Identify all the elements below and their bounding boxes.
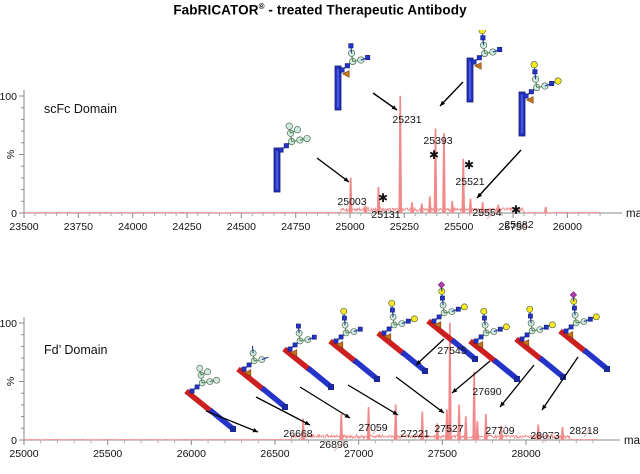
glcnac-square-icon xyxy=(312,335,316,339)
spectrum-peak xyxy=(476,421,479,440)
fd-protein-icon xyxy=(284,349,334,390)
glycan-structure-g0f xyxy=(288,324,316,356)
mannose-circle-icon xyxy=(286,123,292,129)
glycan-structure-g1f xyxy=(472,30,502,69)
peak-label-28218: 28218 xyxy=(569,425,598,437)
glycan-structure-g2f xyxy=(474,308,510,348)
glycan-annot-26668 xyxy=(186,365,236,432)
fd-protein-icon xyxy=(378,333,428,374)
glycan-annot-28218 xyxy=(560,292,610,372)
x-tick-label: 26500 xyxy=(260,448,289,460)
spectrum-peak xyxy=(340,414,343,440)
glcnac-square-icon xyxy=(279,148,283,152)
glycan-annot-25231 xyxy=(335,44,370,110)
peak-label-27221: 27221 xyxy=(400,428,429,440)
x-tick-label: 24750 xyxy=(281,221,310,233)
glcnac-square-icon xyxy=(340,68,344,72)
glcnac-square-icon xyxy=(288,347,292,351)
fd-blue-segment xyxy=(584,350,606,368)
glcnac-square-icon xyxy=(195,385,199,389)
glycan-annot-27059 xyxy=(284,324,334,390)
x-tick-label: 24250 xyxy=(172,221,201,233)
peak-label-25554: 25554 xyxy=(472,207,501,219)
arrow-to-25393 xyxy=(440,82,463,106)
title-main: FabRICATOR xyxy=(173,3,258,18)
x-tick-label: 24000 xyxy=(118,221,147,233)
figure-root: FabRICATOR® - treated Therapeutic Antibo… xyxy=(0,0,640,474)
arrow-to-25231 xyxy=(373,93,397,110)
fd-terminal-square xyxy=(422,368,428,374)
glcnac-square-icon xyxy=(358,327,362,331)
galactose-circle-icon xyxy=(481,308,487,314)
x-tick-label: 26000 xyxy=(177,448,206,460)
fd-protein-icon xyxy=(516,339,566,380)
y-axis-label: % xyxy=(5,377,17,386)
fd-protein-icon xyxy=(560,331,610,372)
galactose-circle-icon xyxy=(531,61,537,67)
arrow-to-27221 xyxy=(348,385,398,415)
galactose-circle-icon xyxy=(461,304,467,310)
x-axis-label: mass xyxy=(624,435,640,447)
neuac-diamond-icon xyxy=(570,292,576,298)
spectrum-peak xyxy=(410,202,413,213)
arrow-to-26896 xyxy=(256,397,310,425)
fd-blue-segment xyxy=(262,388,284,406)
fd-blue-segment xyxy=(308,368,330,386)
fd-blue-segment xyxy=(354,360,376,378)
glcnac-square-icon xyxy=(382,331,386,335)
glcnac-square-icon xyxy=(525,333,529,337)
glcnac-square-icon xyxy=(296,324,300,328)
mannose-circle-icon xyxy=(197,365,203,371)
x-axis-label: mass xyxy=(626,208,640,220)
glycan-annot-25003 xyxy=(274,123,310,192)
glcnac-square-icon xyxy=(564,329,568,333)
fd-protein-icon xyxy=(238,369,288,410)
glcnac-square-icon xyxy=(339,335,343,339)
spectrum-peak xyxy=(420,204,423,213)
glycan-annot-27221 xyxy=(330,308,380,382)
spectrum-fd: 1000%25000255002600026500270002750028000… xyxy=(0,265,640,474)
x-tick-label: 23750 xyxy=(64,221,93,233)
fd-blue-segment xyxy=(540,358,562,376)
y-axis-label: % xyxy=(5,150,17,159)
galactose-circle-icon xyxy=(341,308,347,314)
spectrum-peak xyxy=(473,372,476,440)
glcnac-square-icon xyxy=(497,47,501,51)
glcnac-square-icon xyxy=(432,319,436,323)
mannose-circle-icon xyxy=(358,57,364,63)
glycan-annot-28073 xyxy=(516,306,566,380)
peak-label-26896: 26896 xyxy=(319,439,348,451)
figure-title: FabRICATOR® - treated Therapeutic Antibo… xyxy=(0,2,640,18)
spectrum-peak xyxy=(451,201,454,213)
glcnac-square-icon xyxy=(524,94,528,98)
glcnac-square-icon xyxy=(247,363,251,367)
glcnac-square-icon xyxy=(190,389,194,393)
fd-terminal-square xyxy=(514,376,520,382)
y-tick-label-0: 0 xyxy=(11,208,17,220)
glcnac-square-icon xyxy=(472,60,476,64)
fd-terminal-square xyxy=(604,366,610,372)
arrow-to-25554 xyxy=(477,150,521,198)
spectrum-peak xyxy=(561,427,564,440)
glcnac-square-icon xyxy=(569,325,573,329)
glycan-structure-g2f xyxy=(382,300,418,340)
glycan-annot-25554 xyxy=(519,61,561,136)
x-tick-label: 23500 xyxy=(9,221,38,233)
x-tick-label: 27500 xyxy=(428,448,457,460)
glycan-structure-g2fs xyxy=(432,282,468,328)
panel-scfc: scFc Domain 1000%23500237502400024250245… xyxy=(0,30,640,245)
glcnac-square-icon xyxy=(529,90,533,94)
mannose-circle-icon xyxy=(304,135,310,141)
panel-fd: Fd’ Domain 1000%250002550026000265002700… xyxy=(0,265,640,474)
y-tick-label-100: 100 xyxy=(0,318,17,330)
peak-star-25131: ✱ xyxy=(378,191,388,205)
glycan-structure-g2fs xyxy=(564,292,600,338)
galactose-circle-icon xyxy=(549,322,555,328)
peak-label-27059: 27059 xyxy=(358,422,387,434)
spectrum-peak xyxy=(428,197,431,213)
glycan-structure-g1f xyxy=(334,308,362,348)
fd-terminal-square xyxy=(230,426,236,432)
fd-red-segment xyxy=(186,391,212,412)
glcnac-square-icon xyxy=(437,315,441,319)
peak-label-27709: 27709 xyxy=(485,425,514,437)
x-tick-label: 25500 xyxy=(444,221,473,233)
spectrum-peak xyxy=(394,405,397,440)
glycan-structure-man5 xyxy=(279,123,310,152)
mannose-circle-icon xyxy=(204,369,210,375)
fd-terminal-square xyxy=(472,356,478,362)
arrow-to-27059 xyxy=(300,387,350,418)
spectrum-peak xyxy=(464,417,467,440)
glycan-annot-25393 xyxy=(467,30,502,102)
galactose-circle-icon xyxy=(479,30,485,34)
fd-protein-icon xyxy=(330,341,380,382)
peak-label-25131: 25131 xyxy=(371,209,400,221)
galactose-circle-icon xyxy=(503,324,509,330)
peak-label-25003: 25003 xyxy=(337,196,366,208)
glcnac-square-icon xyxy=(242,367,246,371)
peak-label-27690: 27690 xyxy=(472,386,501,398)
arrow-to-25003 xyxy=(317,158,349,182)
galactose-circle-icon xyxy=(593,314,599,320)
peak-label-27545: 27545 xyxy=(437,345,466,357)
peak-label-25521: 25521 xyxy=(455,176,484,188)
spectrum-peak xyxy=(544,207,547,213)
y-tick-label-0: 0 xyxy=(11,435,17,447)
fd-terminal-square xyxy=(374,376,380,382)
peak-label-25231: 25231 xyxy=(392,114,421,126)
arrow-to-27527 xyxy=(396,377,444,413)
glcnac-square-icon xyxy=(477,56,481,60)
galactose-circle-icon xyxy=(389,300,395,306)
fd-protein-icon xyxy=(186,391,236,432)
galactose-circle-icon xyxy=(411,316,417,322)
glycan-structure-core xyxy=(242,346,268,376)
peak-label-26668: 26668 xyxy=(283,428,312,440)
galactose-circle-icon xyxy=(527,306,533,312)
title-rest: - treated Therapeutic Antibody xyxy=(265,3,467,18)
x-tick-label: 25000 xyxy=(9,448,38,460)
x-tick-label: 25000 xyxy=(335,221,364,233)
peak-star-25521: ✱ xyxy=(464,158,474,172)
glcnac-square-icon xyxy=(284,144,288,148)
spectrum-scfc: 1000%23500237502400024250245002475025000… xyxy=(0,30,640,245)
glycan-structure-g2f xyxy=(520,306,556,346)
peak-label-25393: 25393 xyxy=(423,135,452,147)
fd-terminal-square xyxy=(282,404,288,410)
glcnac-square-icon xyxy=(474,339,478,343)
galactose-circle-icon xyxy=(555,78,561,84)
fd-terminal-square xyxy=(328,384,334,390)
glycan-structure-g0f xyxy=(340,44,370,78)
y-tick-label-100: 100 xyxy=(0,91,17,103)
x-tick-label: 25500 xyxy=(93,448,122,460)
glcnac-square-icon xyxy=(349,44,353,48)
peak-star-25393: ✱ xyxy=(429,148,439,162)
neuac-diamond-icon xyxy=(438,282,444,288)
peak-label-25682: 25682 xyxy=(504,219,533,231)
glycan-bond xyxy=(252,346,253,353)
glcnac-square-icon xyxy=(365,55,369,59)
peak-label-27527: 27527 xyxy=(434,423,463,435)
mannose-circle-icon xyxy=(490,49,496,55)
glcnac-square-icon xyxy=(520,337,524,341)
peak-star-25682: ✱ xyxy=(511,203,521,217)
x-tick-label: 25250 xyxy=(390,221,419,233)
glycan-structure-g2f xyxy=(524,61,561,103)
mannose-circle-icon xyxy=(214,377,220,383)
glycan-structure-man5 xyxy=(190,365,220,393)
glcnac-square-icon xyxy=(345,64,349,68)
peak-label-28073: 28073 xyxy=(530,430,559,442)
glcnac-square-icon xyxy=(479,335,483,339)
x-tick-label: 28000 xyxy=(511,448,540,460)
glcnac-square-icon xyxy=(293,343,297,347)
glcnac-square-icon xyxy=(334,339,338,343)
glcnac-square-icon xyxy=(387,327,391,331)
mannose-circle-icon xyxy=(294,126,300,132)
x-tick-label: 26000 xyxy=(553,221,582,233)
x-tick-label: 24500 xyxy=(227,221,256,233)
fd-blue-segment xyxy=(494,360,516,378)
fd-blue-segment xyxy=(210,410,232,428)
